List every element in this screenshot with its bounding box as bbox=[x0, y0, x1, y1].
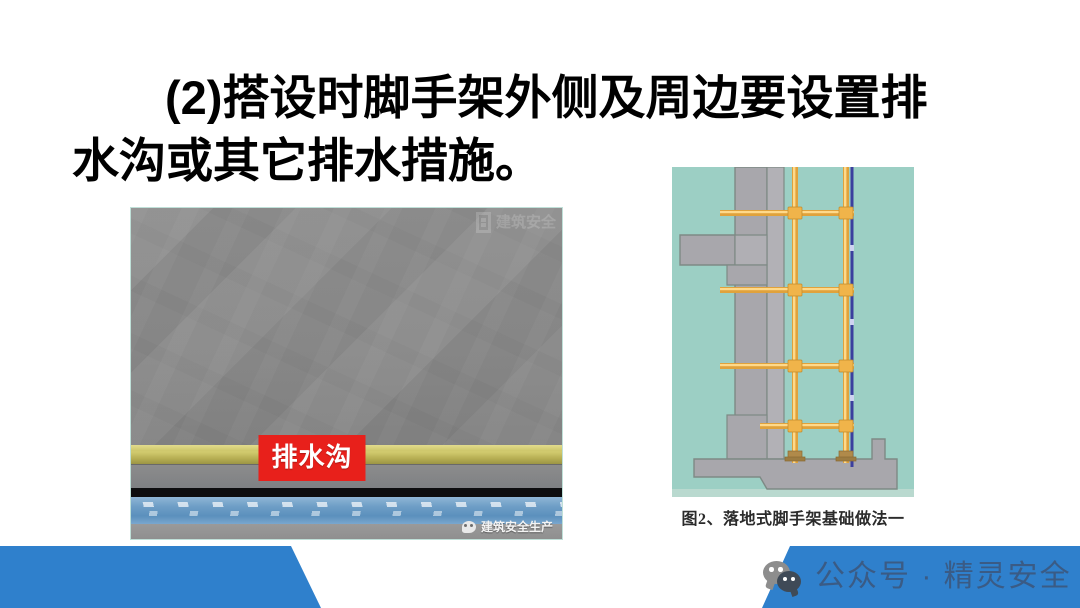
wechat-icon bbox=[763, 560, 805, 594]
watermark-bottom-text: 建筑安全生产 bbox=[481, 521, 553, 533]
photo-watermark-bottom: 建筑安全生产 bbox=[462, 521, 553, 533]
footer-bar-left bbox=[0, 546, 322, 608]
scaffold-foundation-diagram bbox=[672, 167, 914, 497]
watermark-b-logo-icon bbox=[476, 212, 491, 233]
watermark-chat-icon bbox=[462, 521, 476, 533]
diagram-caption: 图2、落地式脚手架基础做法一 bbox=[672, 505, 914, 529]
slide-canvas: (2)搭设时脚手架外侧及周边要设置排 水沟或其它排水措施。 排水沟 建筑安全 建… bbox=[0, 0, 1080, 608]
footer-brand-text: 公众号 · 精灵安全 bbox=[815, 562, 1072, 592]
drainage-ditch-label: 排水沟 bbox=[259, 435, 366, 481]
photo-black-strip bbox=[131, 488, 562, 497]
photo-wall bbox=[131, 208, 562, 463]
drainage-ditch-photo: 排水沟 建筑安全 建筑安全生产 bbox=[130, 207, 563, 540]
footer-brand: 公众号 · 精灵安全 bbox=[755, 546, 1080, 608]
title-line-1: (2)搭设时脚手架外侧及周边要设置排 bbox=[60, 66, 1010, 129]
watermark-top-text: 建筑安全 bbox=[496, 215, 556, 230]
photo-watermark-top: 建筑安全 bbox=[476, 212, 556, 233]
